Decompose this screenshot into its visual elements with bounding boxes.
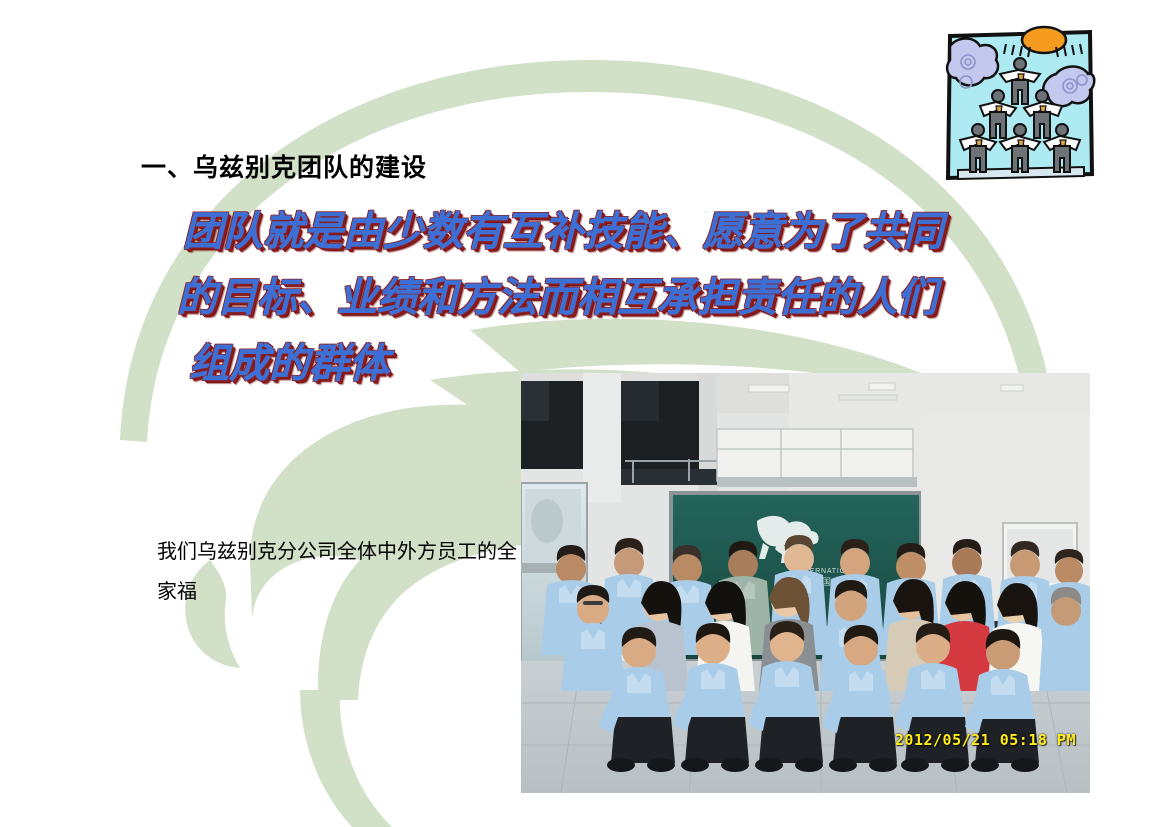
group-photo-illustration: INTERNATIONAL 东 盛 国 EAST [521, 373, 1090, 793]
photo-caption: 我们乌兹别克分公司全体中外方员工的全家福 [157, 532, 527, 612]
presentation-slide: 一、乌兹别克团队的建设 团队就是由少数有互补技能、愿意为了共同 的目标、业绩和方… [0, 0, 1169, 827]
uzbekistan-branch-group-photo: INTERNATIONAL 东 盛 国 EAST [521, 373, 1090, 793]
wordart-line-1: 团队就是由少数有互补技能、愿意为了共同 [183, 212, 965, 252]
photo-timestamp: 2012/05/21 05:18 PM [895, 731, 1076, 749]
wordart-line-2: 的目标、业绩和方法而相互承担责任的人们 [177, 278, 965, 318]
teamwork-human-pyramid-clipart [944, 24, 1096, 196]
section-heading: 一、乌兹别克团队的建设 [141, 148, 427, 184]
